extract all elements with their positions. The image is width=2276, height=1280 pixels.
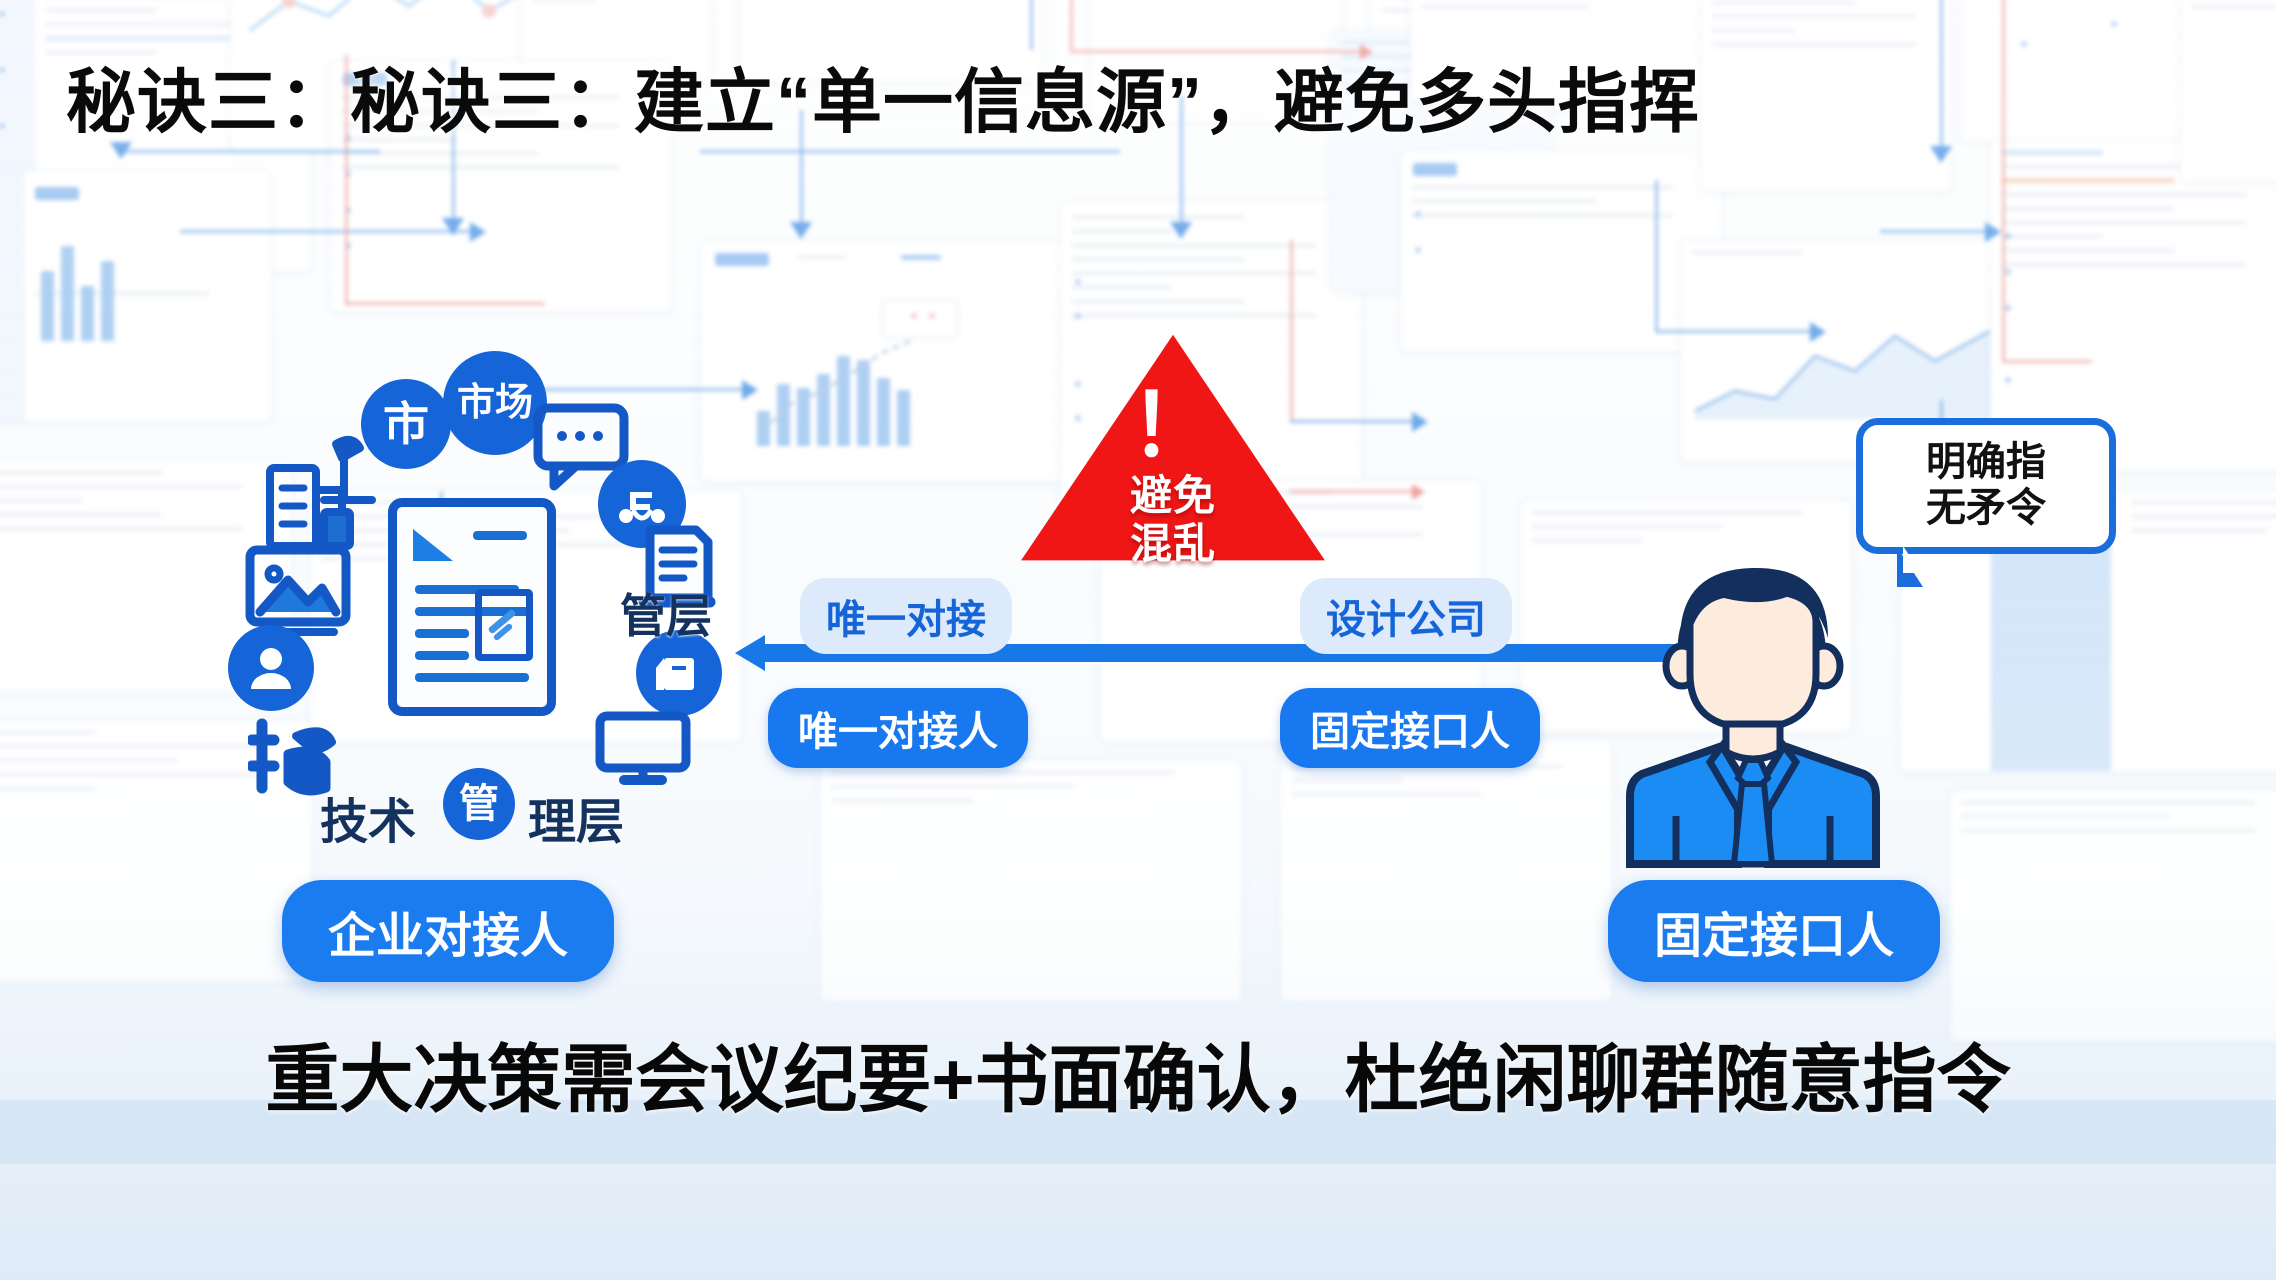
badge-shichang-label: 市场 [457, 384, 533, 422]
badge-unique-contact: 唯一对接 [800, 578, 1012, 654]
bottom-caption: 重大决策需会议纪要+书面确认，杜绝闲聊群随意指令 [0, 1020, 2276, 1127]
badge-design-company: 设计公司 [1300, 578, 1512, 654]
badge-shi: 市 [361, 379, 451, 469]
page-title: 秘诀三：秘诀三：建立“单一信息源”，避免多头指挥 [66, 66, 2166, 140]
document-main-icon [388, 498, 556, 716]
badge-guan: 管 [443, 768, 515, 840]
pill-fixed-interface-person: 固定接口人 [1280, 688, 1540, 768]
speech-line-1: 明确指 [1875, 439, 2097, 485]
warning-line-2: 混乱 [1018, 510, 1328, 571]
speech-bubble: 明确指 无矛令 [1856, 418, 2116, 554]
label-guancheng: 管层 [620, 580, 712, 646]
warning-triangle: ！ 避免 混乱 [1018, 330, 1328, 570]
pill-fixed-interface-bottom: 固定接口人 [1608, 880, 1940, 982]
user-avatar-icon [228, 625, 314, 711]
pill-enterprise-contact: 企业对接人 [282, 880, 614, 982]
exclamation-icon: ！ [1130, 392, 1216, 461]
speech-line-2: 无矛令 [1875, 485, 2097, 531]
label-jishu: 技术 [320, 782, 416, 852]
speech-bubble-tail-inner [1903, 546, 1921, 573]
infographic-slide: 秘诀三：秘诀三：建立“单一信息源”，避免多头指挥 [0, 0, 2276, 1280]
label-licheng: 理层 [528, 782, 624, 852]
badge-shi-label: 市 [383, 401, 429, 447]
badge-guan-label: 管 [459, 784, 499, 824]
pill-unique-contact-person: 唯一对接人 [768, 688, 1028, 768]
businessman-avatar [1618, 548, 1888, 868]
